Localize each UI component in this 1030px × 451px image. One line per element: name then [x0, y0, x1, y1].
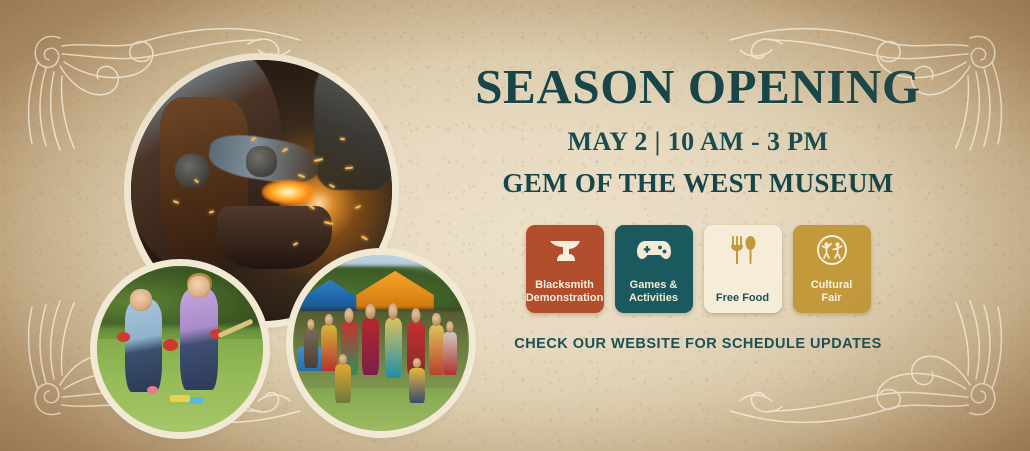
anvil-icon: [548, 234, 582, 266]
feature-tile-blacksmith[interactable]: Blacksmith Demonstration: [526, 225, 604, 313]
poster-text-column: SEASON OPENING MAY 2 | 10 AM - 3 PM GEM …: [443, 62, 953, 352]
footer-note: CHECK OUR WEBSITE FOR SCHEDULE UPDATES: [443, 336, 953, 352]
feature-tiles: Blacksmith Demonstration Games & Activit…: [443, 225, 953, 313]
feature-tile-games[interactable]: Games & Activities: [615, 225, 693, 313]
feature-tile-cultural-fair[interactable]: Cultural Fair: [793, 225, 871, 313]
event-venue: GEM OF THE WEST MUSEUM: [443, 168, 953, 199]
feature-tile-label: Blacksmith Demonstration: [526, 279, 604, 313]
cutlery-icon: [729, 234, 757, 266]
feature-tile-free-food[interactable]: Free Food: [704, 225, 782, 313]
children-games-photo: [97, 266, 263, 432]
dancers-icon: [816, 234, 848, 266]
gamepad-icon: [636, 234, 672, 266]
feature-tile-label: Free Food: [716, 292, 769, 313]
feature-tile-label: Cultural Fair: [811, 279, 853, 313]
page-title: SEASON OPENING: [443, 62, 953, 111]
cultural-fair-photo: [293, 255, 469, 431]
event-date-time: MAY 2 | 10 AM - 3 PM: [443, 127, 953, 157]
event-poster: SEASON OPENING MAY 2 | 10 AM - 3 PM GEM …: [0, 0, 1030, 451]
feature-tile-label: Games & Activities: [629, 279, 678, 313]
